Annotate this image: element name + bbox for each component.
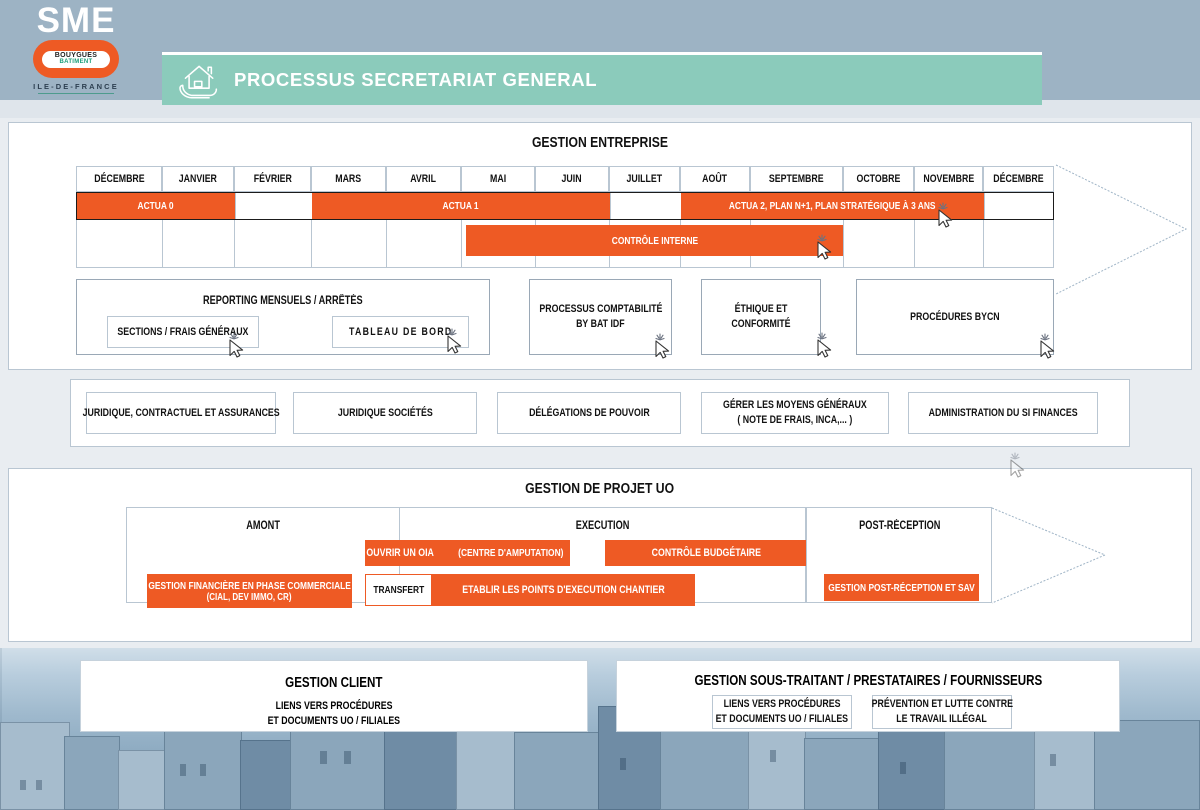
- panel-gestion-entreprise: GESTION ENTREPRISE DÉCEMBRE JANVIER FÉVR…: [8, 122, 1192, 370]
- reporting-title: REPORTING MENSUELS / ARRÊTÉS: [203, 294, 363, 309]
- timeline-arrowhead: [1054, 163, 1194, 298]
- project-bar-ouvrir-oia[interactable]: OUVRIR UN OIA (CENTRE D'AMPUTATION): [365, 540, 570, 566]
- page-title: PROCESSUS SECRETARIAT GENERAL: [234, 69, 597, 91]
- panel-gestion-projet-uo: GESTION DE PROJET UO AMONT EXECUTION OUV…: [8, 468, 1192, 642]
- month-cell: DÉCEMBRE: [983, 166, 1054, 192]
- bouygues-badge: BOUYGUES BATIMENT: [33, 40, 119, 78]
- project-arrowhead: [991, 507, 1111, 604]
- month-cell: AVRIL: [386, 166, 461, 192]
- page-header-banner: PROCESSUS SECRETARIAT GENERAL: [162, 55, 1042, 105]
- month-cell: AOÛT: [680, 166, 750, 192]
- gestion-client-line2: ET DOCUMENTS UO / FILIALES: [268, 714, 401, 728]
- supplier-box-liens[interactable]: LIENS VERS PROCÉDURES ET DOCUMENTS UO / …: [712, 695, 852, 729]
- phase-label-amont: AMONT: [127, 520, 399, 532]
- reporting-item[interactable]: SECTIONS / FRAIS GÉNÉRAUX: [107, 316, 259, 348]
- timeline-bar[interactable]: CONTRÔLE INTERNE: [466, 225, 843, 256]
- month-cell: JUILLET: [609, 166, 680, 192]
- month-cell: NOVEMBRE: [914, 166, 983, 192]
- panel-support: JURIDIQUE, CONTRACTUEL ET ASSURANCES JUR…: [8, 374, 1192, 456]
- month-cell: SEPTEMBRE: [750, 166, 843, 192]
- support-item-juridique-societes[interactable]: JURIDIQUE SOCIÉTÉS: [293, 392, 477, 434]
- gestion-projet-title: GESTION DE PROJET UO: [9, 481, 1191, 497]
- logo-underline: [38, 93, 114, 94]
- month-cell: DÉCEMBRE: [76, 166, 162, 192]
- month-cell: JANVIER: [162, 166, 234, 192]
- logo-region-text: ILE-DE-FRANCE: [28, 82, 124, 91]
- support-item-moyens-generaux[interactable]: GÉRER LES MOYENS GÉNÉRAUX ( NOTE DE FRAI…: [701, 392, 889, 434]
- diagram-stage: SME BOUYGUES BATIMENT ILE-DE-FRANCE PROC…: [0, 0, 1200, 810]
- support-item-delegations[interactable]: DÉLÉGATIONS DE POUVOIR: [497, 392, 681, 434]
- project-phase-post-reception: POST-RÉCEPTION GESTION POST-RÉCEPTION ET…: [806, 507, 992, 603]
- project-bar-post-reception-sav[interactable]: GESTION POST-RÉCEPTION ET SAV: [824, 574, 979, 601]
- timeline-bar[interactable]: ACTUA 1: [312, 193, 610, 219]
- timeline-row-2: CONTRÔLE INTERNE: [76, 220, 1054, 268]
- gestion-entreprise-title: GESTION ENTREPRISE: [9, 135, 1191, 151]
- timeline-row-1: ACTUA 0 ACTUA 1 ACTUA 2, PLAN N+1, PLAN …: [76, 192, 1054, 220]
- timeline-bar[interactable]: ACTUA 0: [77, 193, 235, 219]
- sme-logo: SME BOUYGUES BATIMENT ILE-DE-FRANCE: [28, 4, 124, 98]
- reporting-item[interactable]: TABLEAU DE BORD: [332, 316, 469, 348]
- card-processus-comptabilite[interactable]: PROCESSUS COMPTABILITÉ BY BAT IDF: [529, 279, 672, 355]
- project-bar-points-execution[interactable]: ETABLIR LES POINTS D'EXECUTION CHANTIER: [432, 574, 695, 606]
- badge-line-1: BOUYGUES: [55, 52, 97, 59]
- card-procedures-bycn[interactable]: PROCÉDURES BYCN: [856, 279, 1054, 355]
- supplier-box-prevention[interactable]: PRÉVENTION ET LUTTE CONTRE LE TRAVAIL IL…: [872, 695, 1012, 729]
- project-bar-transfert[interactable]: TRANSFERT: [365, 574, 432, 606]
- month-cell: MARS: [311, 166, 386, 192]
- gestion-client-line1: LIENS VERS PROCÉDURES: [276, 699, 393, 713]
- month-cell: JUIN: [535, 166, 609, 192]
- panel-gestion-sous-traitant: GESTION SOUS-TRAITANT / PRESTATAIRES / F…: [616, 660, 1120, 732]
- phase-label-execution: EXECUTION: [399, 520, 807, 532]
- project-bar-controle-budgetaire[interactable]: CONTRÔLE BUDGÉTAIRE: [605, 540, 807, 566]
- reporting-group: REPORTING MENSUELS / ARRÊTÉS SECTIONS / …: [76, 279, 490, 355]
- card-ethique-conformite[interactable]: ÉTHIQUE ET CONFORMITÉ: [701, 279, 821, 355]
- support-item-si-finances[interactable]: ADMINISTRATION DU SI FINANCES: [908, 392, 1098, 434]
- gestion-sous-traitant-title: GESTION SOUS-TRAITANT / PRESTATAIRES / F…: [694, 673, 1042, 689]
- logo-sme-text: SME: [28, 4, 124, 38]
- support-item-juridique-contractuel[interactable]: JURIDIQUE, CONTRACTUEL ET ASSURANCES: [86, 392, 276, 434]
- month-cell: OCTOBRE: [843, 166, 914, 192]
- panel-gestion-client: GESTION CLIENT LIENS VERS PROCÉDURES ET …: [80, 660, 588, 732]
- badge-line-2: BATIMENT: [60, 59, 93, 66]
- phase-label-post-reception: POST-RÉCEPTION: [807, 520, 993, 532]
- project-bar-gestion-financiere[interactable]: GESTION FINANCIÈRE EN PHASE COMMERCIALE …: [147, 574, 352, 608]
- house-in-hand-icon: [178, 60, 222, 100]
- month-cell: MAI: [461, 166, 535, 192]
- gestion-client-title: GESTION CLIENT: [285, 675, 382, 691]
- month-cell: FÉVRIER: [234, 166, 311, 192]
- project-phases-container: AMONT EXECUTION OUVRIR UN OIA (CENTRE D'…: [126, 507, 806, 603]
- timeline-bar[interactable]: ACTUA 2, PLAN N+1, PLAN STRATÉGIQUE À 3 …: [681, 193, 984, 219]
